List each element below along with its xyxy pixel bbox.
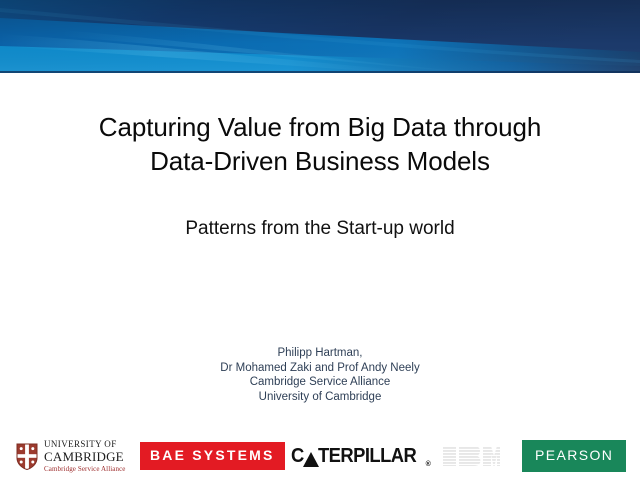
sponsor-logo-bar: UNIVERSITY OF CAMBRIDGE Cambridge Servic… (0, 432, 640, 480)
title-slide: Capturing Value from Big Data through Da… (0, 0, 640, 480)
author-line-1: Philipp Hartman, (0, 346, 640, 361)
affiliation-line-2: University of Cambridge (0, 390, 640, 405)
subtitle-line-1: Patterns from the Start-up world (0, 216, 640, 241)
logo-bae-systems: BAE SYSTEMS (140, 432, 285, 480)
cambridge-crest-icon (16, 443, 38, 470)
ibm-striped-wordmark (443, 444, 500, 468)
logo-pearson: PEARSON (522, 432, 626, 480)
header-banner (0, 0, 640, 73)
banner-graphic (0, 0, 640, 73)
author-line-2: Dr Mohamed Zaki and Prof Andy Neely (0, 361, 640, 376)
pearson-wordmark: PEARSON (535, 447, 613, 463)
cambridge-wordmark: UNIVERSITY OF CAMBRIDGE Cambridge Servic… (44, 440, 126, 473)
page-subtitle: Patterns from the Start-up world (0, 216, 640, 241)
cambridge-line-2: CAMBRIDGE (44, 450, 126, 463)
affiliation-line-1: Cambridge Service Alliance (0, 375, 640, 390)
banner-bottom-edge (0, 71, 640, 73)
caterpillar-c: C (291, 445, 304, 468)
cambridge-service-alliance-label: Cambridge Service Alliance (44, 466, 126, 473)
bae-box: BAE SYSTEMS (140, 442, 285, 470)
caterpillar-triangle-a-icon (303, 452, 319, 467)
title-line-1: Capturing Value from Big Data through (0, 110, 640, 144)
pearson-box: PEARSON (522, 440, 626, 472)
bae-wordmark: BAE SYSTEMS (150, 447, 275, 463)
caterpillar-rest: TERPILLAR (318, 445, 416, 468)
page-title: Capturing Value from Big Data through Da… (0, 110, 640, 178)
cambridge-line-1: UNIVERSITY OF (44, 440, 126, 449)
logo-caterpillar: C TERPILLAR ® (291, 432, 431, 480)
author-block: Philipp Hartman, Dr Mohamed Zaki and Pro… (0, 346, 640, 404)
logo-university-of-cambridge: UNIVERSITY OF CAMBRIDGE Cambridge Servic… (16, 432, 126, 480)
caterpillar-trademark: ® (426, 461, 431, 468)
title-line-2: Data-Driven Business Models (0, 144, 640, 178)
caterpillar-wordmark: C TERPILLAR ® (291, 445, 431, 468)
logo-ibm (443, 432, 500, 480)
